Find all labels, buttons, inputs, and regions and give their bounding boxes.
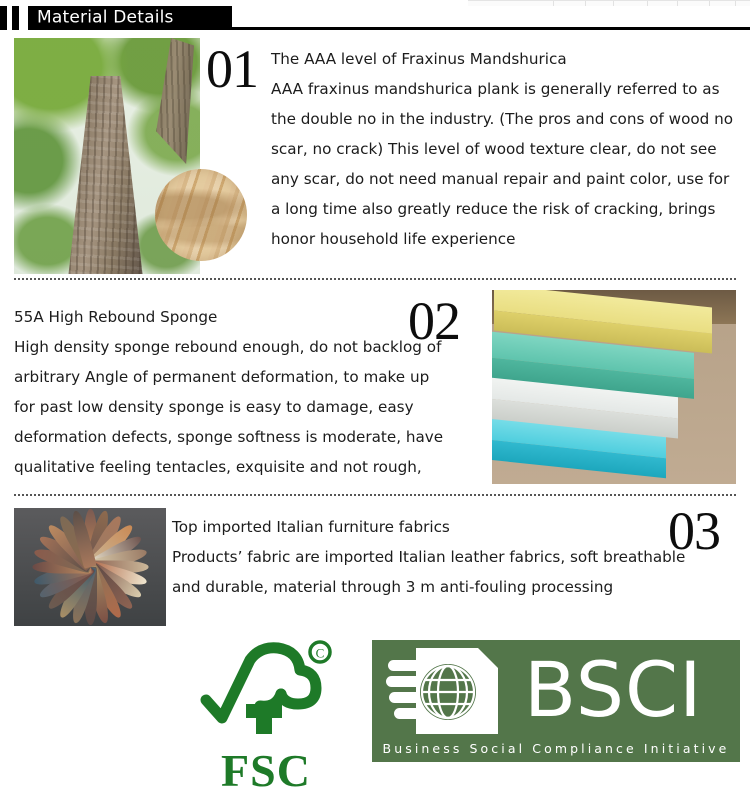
fsc-logo: C FSC (186, 638, 346, 796)
section-02-body: High density sponge rebound enough, do n… (14, 338, 443, 476)
section-01-text: The AAA level of Fraxinus Mandshurica AA… (271, 44, 743, 254)
bsci-wordmark: BSCI (524, 642, 703, 738)
bsci-tagline: Business Social Compliance Initiative (372, 741, 740, 756)
section-01-heading: The AAA level of Fraxinus Mandshurica (271, 44, 743, 74)
section-number-01: 01 (206, 42, 258, 96)
section-divider-1 (14, 278, 736, 280)
section-01-body: AAA fraxinus mandshurica plank is genera… (271, 80, 733, 248)
stacked-foam-sheets-photo (492, 290, 736, 484)
bsci-hand-globe-icon (386, 646, 504, 738)
section-02-text: 55A High Rebound Sponge High density spo… (14, 302, 454, 482)
section-header: Material Details (0, 6, 750, 30)
tree-trunk-secondary (150, 38, 194, 164)
bsci-logo: BSCI Business Social Compliance Initiati… (372, 640, 740, 762)
section-number-02: 02 (408, 294, 460, 348)
page-title: Material Details (37, 8, 174, 28)
section-03-text: Top imported Italian furniture fabrics P… (172, 512, 712, 602)
fsc-copyright-mark: C (316, 646, 325, 661)
fsc-wordmark: FSC (186, 748, 346, 794)
header-accent-bar-2 (12, 6, 19, 30)
section-02-heading: 55A High Rebound Sponge (14, 302, 454, 332)
section-number-03: 03 (668, 504, 720, 558)
header-plate: Material Details (28, 6, 750, 30)
header-plate-fill (232, 6, 750, 27)
certification-logos: C FSC (0, 632, 750, 800)
wood-grain-circle (155, 169, 247, 261)
header-underline (84, 27, 750, 30)
material-section-03: Top imported Italian furniture fabrics P… (0, 502, 750, 628)
fsc-tree-checkmark-icon: C (186, 638, 346, 750)
section-03-heading: Top imported Italian furniture fabrics (172, 512, 712, 542)
material-section-02: 55A High Rebound Sponge High density spo… (0, 288, 750, 488)
section-divider-2 (14, 494, 736, 496)
material-section-01: 01 The AAA level of Fraxinus Mandshurica… (0, 36, 750, 276)
leather-fabric-swatch-fan-photo (14, 508, 166, 626)
tree-trunk-main (69, 76, 143, 274)
section-03-body: Products’ fabric are imported Italian le… (172, 548, 685, 596)
header-accent-bar-1 (0, 6, 7, 30)
